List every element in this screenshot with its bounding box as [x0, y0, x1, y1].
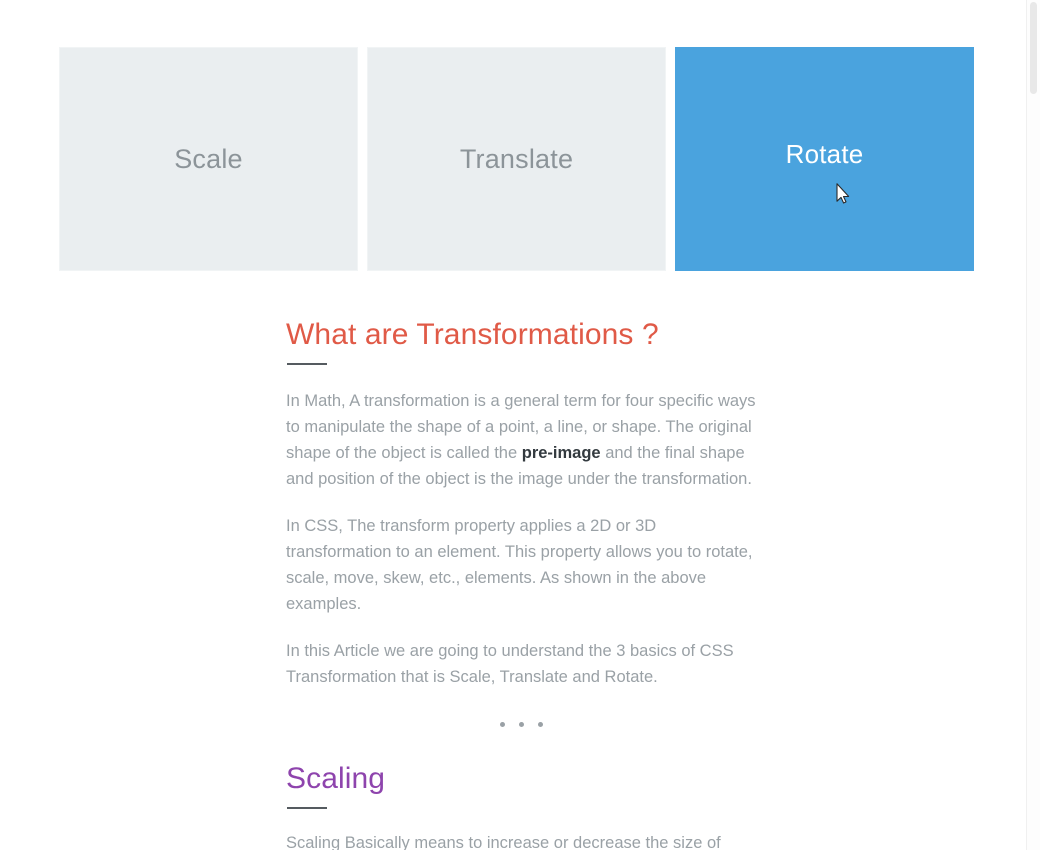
demo-card-rotate[interactable]: Rotate	[675, 47, 974, 271]
section-divider-dots	[286, 715, 756, 735]
scrollbar-thumb[interactable]	[1030, 2, 1037, 94]
title-underline-rule	[287, 363, 327, 365]
divider-dot-1	[500, 722, 505, 727]
scaling-section: Scaling Scaling Basically means to incre…	[286, 762, 756, 850]
demo-card-scale[interactable]: Scale	[59, 47, 358, 271]
demo-card-translate[interactable]: Translate	[367, 47, 666, 271]
paragraph-definition: In Math, A transformation is a general t…	[286, 388, 756, 492]
demo-card-scale-label: Scale	[174, 146, 243, 173]
browser-viewport: Scale Translate Rotate What are Transfor…	[0, 0, 1040, 850]
divider-dot-2	[519, 722, 524, 727]
divider-dot-3	[538, 722, 543, 727]
article-body: What are Transformations ? In Math, A tr…	[286, 318, 756, 850]
page-title: What are Transformations ?	[286, 318, 756, 352]
demo-card-translate-label: Translate	[460, 146, 573, 173]
scaling-paragraph: Scaling Basically means to increase or d…	[286, 830, 756, 850]
page-content: Scale Translate Rotate What are Transfor…	[0, 0, 1026, 850]
scaling-underline-rule	[287, 807, 327, 809]
paragraph-article-scope: In this Article we are going to understa…	[286, 638, 756, 690]
demo-card-rotate-label: Rotate	[786, 141, 864, 167]
scaling-section-title: Scaling	[286, 762, 756, 796]
transform-demo-cards: Scale Translate Rotate	[59, 47, 974, 271]
term-pre-image: pre-image	[522, 444, 601, 462]
paragraph-css-transform: In CSS, The transform property applies a…	[286, 513, 756, 617]
vertical-scrollbar[interactable]	[1026, 0, 1040, 850]
